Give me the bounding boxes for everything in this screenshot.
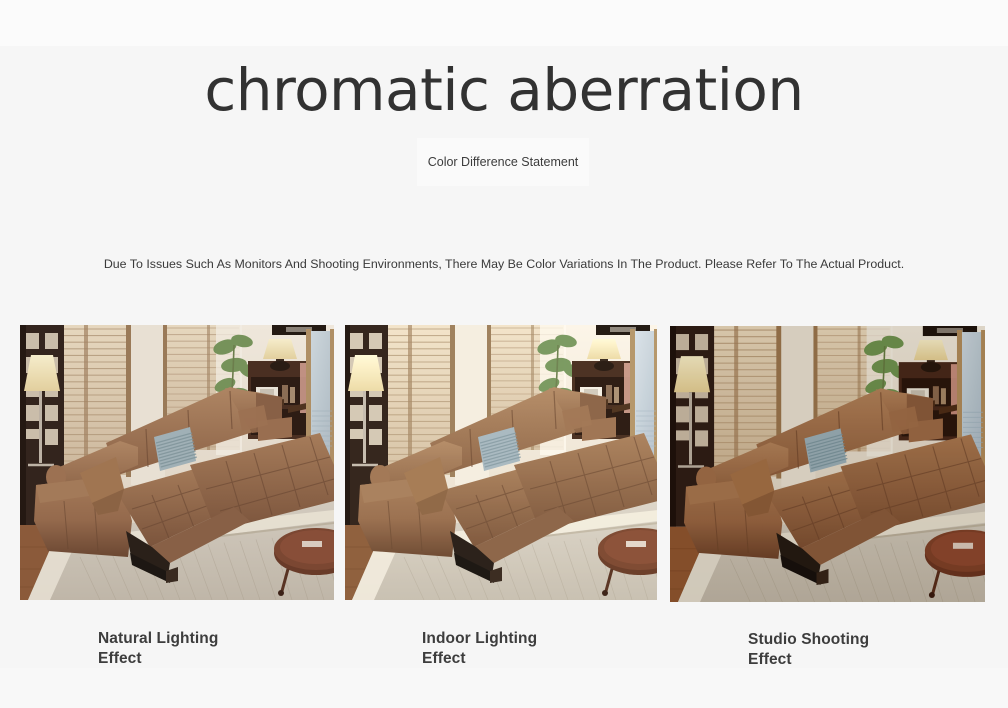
caption-indoor-lighting: Indoor Lighting Effect xyxy=(422,629,537,669)
comparison-panels: Natural Lighting Effect Indoor Lighting … xyxy=(0,0,1008,708)
product-image-natural-lighting xyxy=(20,325,334,600)
living-room-illustration xyxy=(670,326,985,602)
caption-studio-shooting: Studio Shooting Effect xyxy=(748,630,869,670)
living-room-illustration xyxy=(345,325,657,600)
product-image-studio-shooting xyxy=(670,326,985,602)
caption-natural-lighting: Natural Lighting Effect xyxy=(98,629,218,669)
living-room-illustration xyxy=(20,325,334,600)
product-image-indoor-lighting xyxy=(345,325,657,600)
